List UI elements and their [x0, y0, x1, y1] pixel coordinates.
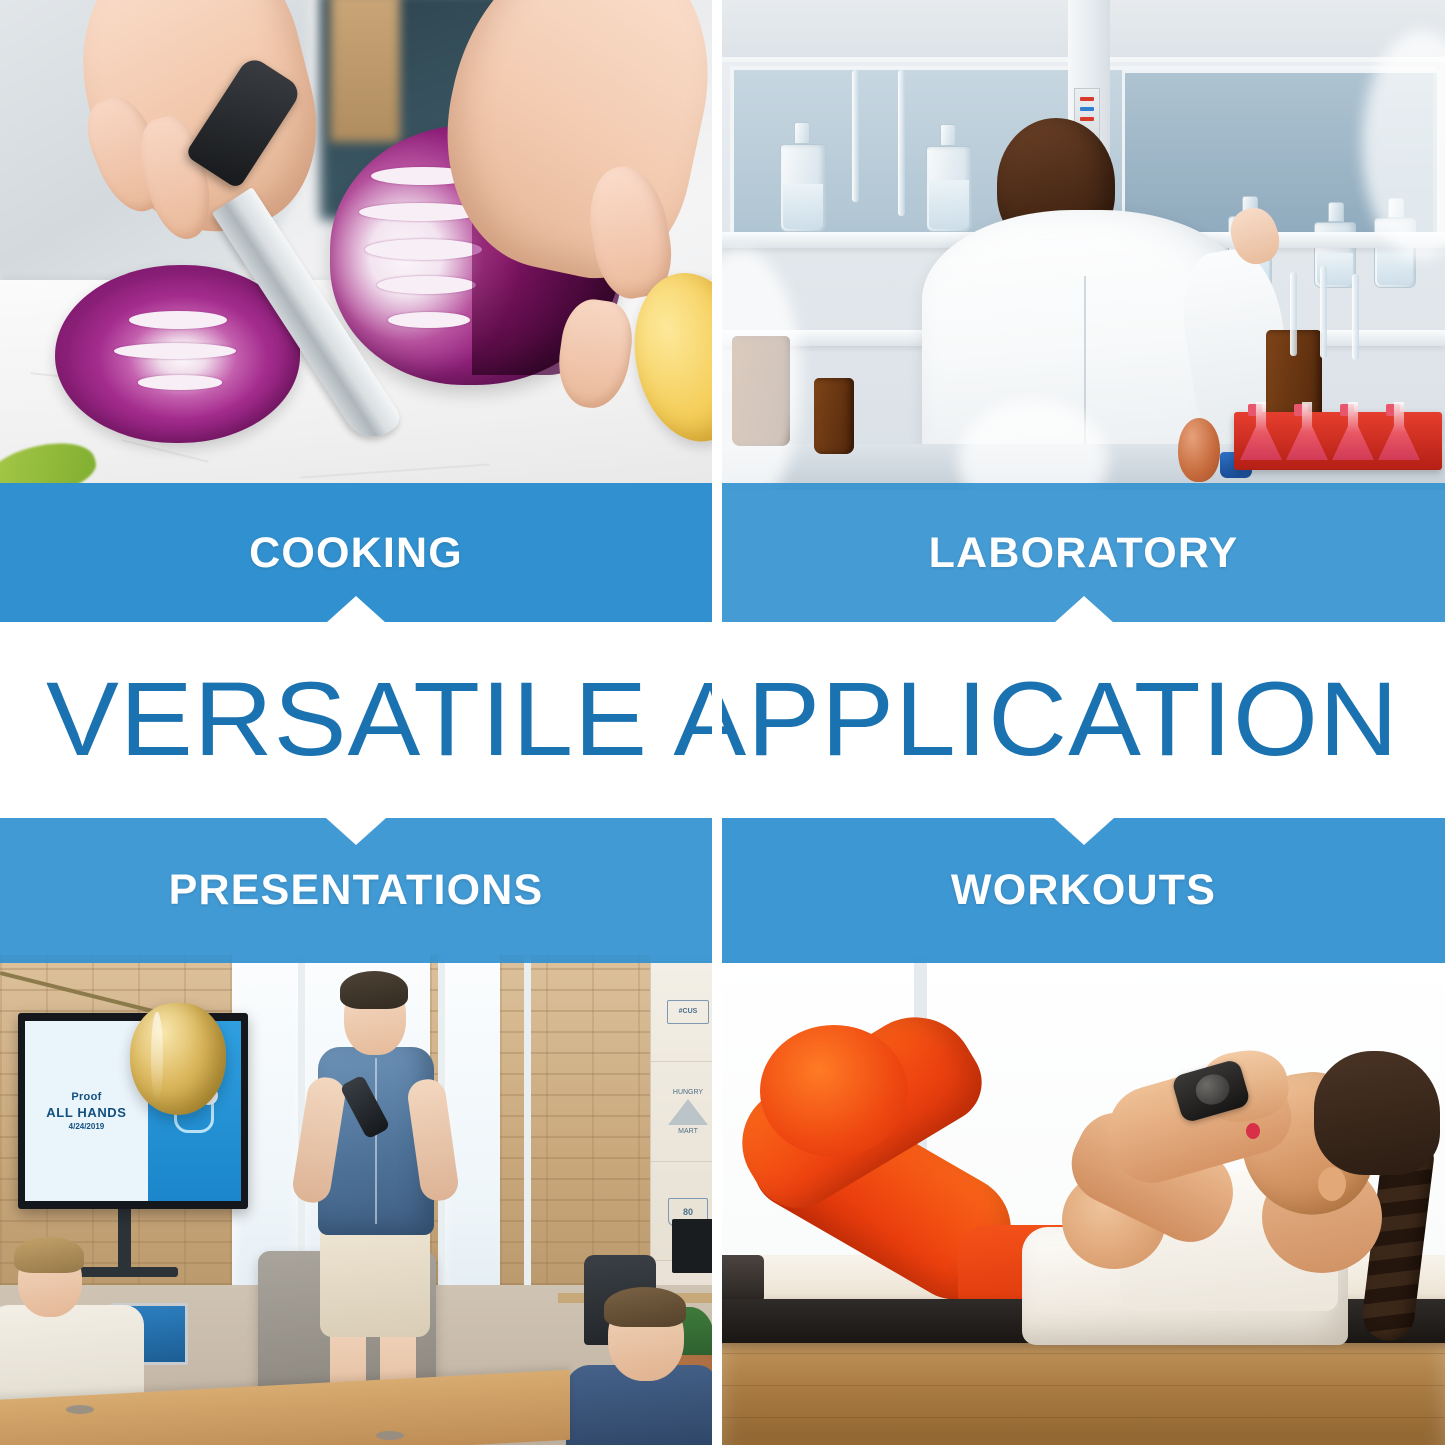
knee — [760, 1025, 908, 1157]
page-title: VERSATILE APPLICATION — [46, 660, 1399, 780]
triangle-icon — [668, 1099, 708, 1125]
versatile-application-infographic: #CUS HUNGRY MART 80 Proof ALL HANDS — [0, 0, 1445, 1445]
slide-title: Proof — [71, 1091, 101, 1103]
brick-wall — [500, 955, 650, 1285]
wall-art-hungry-label: HUNGRY — [673, 1089, 703, 1096]
panel-photo-cooking — [0, 0, 712, 490]
notch-icon — [1054, 818, 1114, 845]
banner-presentations: PRESENTATIONS — [0, 818, 712, 963]
monitor — [672, 1219, 712, 1273]
presentation-scene: #CUS HUNGRY MART 80 Proof ALL HANDS — [0, 955, 712, 1445]
reagent-bottle — [926, 146, 972, 232]
banner-label-cooking: COOKING — [249, 529, 463, 578]
flask-rack — [1234, 412, 1442, 470]
slide-date: 4/24/2019 — [69, 1122, 105, 1131]
foot — [722, 1255, 764, 1303]
hair — [1314, 1051, 1440, 1175]
cooking-scene — [0, 0, 712, 490]
panel-photo-presentations: #CUS HUNGRY MART 80 Proof ALL HANDS — [0, 955, 712, 1445]
pipette-bulb — [1178, 418, 1220, 482]
panel-photo-workouts — [722, 955, 1445, 1445]
banner-label-laboratory: LABORATORY — [929, 529, 1239, 578]
slide-subtitle: ALL HANDS — [46, 1105, 126, 1120]
column-gutter — [712, 0, 722, 1445]
notch-icon — [326, 818, 386, 845]
gold-pendant-lamp — [130, 1003, 226, 1115]
panel-photo-laboratory — [722, 0, 1445, 490]
wall-art-panel: #CUS HUNGRY MART 80 — [650, 961, 712, 1261]
banner-label-presentations: PRESENTATIONS — [169, 866, 544, 915]
reagent-bottle — [780, 144, 826, 232]
seated-person-right-hair — [604, 1287, 686, 1327]
banner-workouts: WORKOUTS — [722, 818, 1445, 963]
fingernail — [1246, 1123, 1260, 1139]
banner-laboratory: LABORATORY — [722, 483, 1445, 623]
notch-icon — [1054, 596, 1114, 623]
ear — [1318, 1167, 1346, 1201]
wall-art-bubble: #CUS — [667, 1000, 709, 1024]
presenter-hair — [340, 971, 408, 1009]
seated-person-left-hair — [14, 1237, 84, 1273]
amber-bottle — [814, 378, 854, 454]
banner-label-workouts: WORKOUTS — [951, 866, 1216, 915]
notch-icon — [326, 596, 386, 623]
presenter-shorts — [320, 1227, 430, 1337]
title-band: VERSATILE APPLICATION — [0, 622, 1445, 818]
wood-panel — [330, 0, 400, 142]
tv-stand-foot — [74, 1267, 178, 1277]
wall-art-smart-label: MART — [678, 1128, 698, 1135]
workout-scene — [722, 955, 1445, 1445]
banner-cooking: COOKING — [0, 483, 712, 623]
laboratory-scene — [722, 0, 1445, 490]
tv-stand-pole — [118, 1209, 131, 1271]
